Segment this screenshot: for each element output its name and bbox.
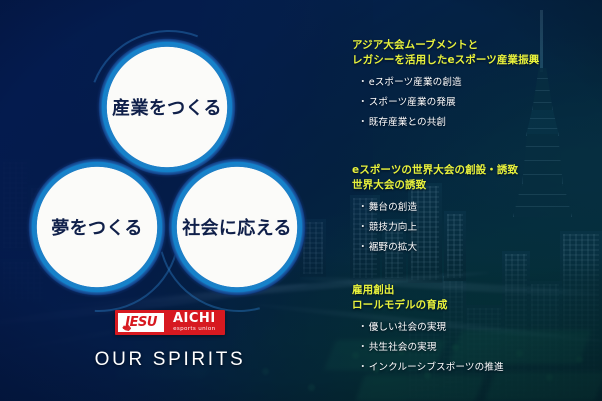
pillar-circle-label: 産業をつくる — [112, 94, 222, 120]
detail-block-industry: アジア大会ムーブメントと レガシーを活用したeスポーツ産業振興 ・eスポーツ産業… — [352, 38, 602, 136]
bullet-text: 既存産業との共創 — [369, 117, 446, 128]
heading-line: レガシーを活用したeスポーツ産業振興 — [352, 53, 602, 68]
pillar-circle-create-dreams[interactable]: 夢をつくる — [26, 156, 168, 298]
bullet-marker: ・ — [358, 342, 368, 353]
bullet-marker: ・ — [358, 242, 368, 253]
pillar-circle-create-industry[interactable]: 産業をつくる — [96, 36, 238, 178]
heading-line: 雇用創出 — [352, 283, 602, 298]
bullet-item: ・スポーツ産業の発展 — [358, 96, 602, 109]
bullet-text: 裾野の拡大 — [369, 242, 417, 253]
bullet-item: ・優しい社会の実現 — [358, 321, 602, 334]
bullet-marker: ・ — [358, 362, 368, 373]
pillar-circle-label: 社会に応える — [182, 214, 292, 240]
bullet-text: 競技力向上 — [369, 222, 417, 233]
bullet-item: ・インクルーシブスポーツの推進 — [358, 361, 602, 374]
bullet-text: 共生社会の実現 — [369, 342, 437, 353]
bullet-marker: ・ — [358, 117, 368, 128]
bullet-item: ・eスポーツ産業の創造 — [358, 76, 602, 89]
pillar-circle-label: 夢をつくる — [51, 214, 142, 240]
bullet-marker: ・ — [358, 222, 368, 233]
detail-block-world-tournament: eスポーツの世界大会の創設・誘致 世界大会の誘致 ・舞台の創造 ・競技力向上 ・… — [352, 163, 602, 261]
bullet-item: ・既存産業との共創 — [358, 116, 602, 129]
bullet-item: ・裾野の拡大 — [358, 241, 602, 254]
detail-block-employment: 雇用創出 ロールモデルの育成 ・優しい社会の実現 ・共生社会の実現 ・インクルー… — [352, 283, 602, 381]
bullet-marker: ・ — [358, 322, 368, 333]
bullet-item: ・競技力向上 — [358, 221, 602, 234]
detail-block-bullets: ・優しい社会の実現 ・共生社会の実現 ・インクルーシブスポーツの推進 — [352, 321, 602, 374]
pillar-circle-answer-society[interactable]: 社会に応える — [166, 156, 308, 298]
heading-line: eスポーツの世界大会の創設・誘致 — [352, 163, 602, 178]
detail-block-bullets: ・舞台の創造 ・競技力向上 ・裾野の拡大 — [352, 201, 602, 254]
bullet-marker: ・ — [358, 97, 368, 108]
aichi-logo-block: AICHI esports union — [166, 310, 225, 335]
bullet-item: ・舞台の創造 — [358, 201, 602, 214]
detail-block-heading: 雇用創出 ロールモデルの育成 — [352, 283, 602, 312]
aichi-logo-subtitle: esports union — [173, 325, 216, 333]
detail-column: アジア大会ムーブメントと レガシーを活用したeスポーツ産業振興 ・eスポーツ産業… — [352, 0, 602, 401]
aichi-logo-text: AICHI — [173, 312, 216, 325]
detail-block-heading: アジア大会ムーブメントと レガシーを活用したeスポーツ産業振興 — [352, 38, 602, 67]
tagline: OUR SPIRITS — [0, 349, 340, 371]
heading-line: アジア大会ムーブメントと — [352, 38, 602, 53]
bullet-text: 舞台の創造 — [369, 202, 417, 213]
bullet-text: インクルーシブスポーツの推進 — [369, 362, 504, 373]
bullet-marker: ・ — [358, 77, 368, 88]
heading-line: 世界大会の誘致 — [352, 178, 602, 193]
detail-block-bullets: ・eスポーツ産業の創造 ・スポーツ産業の発展 ・既存産業との共創 — [352, 76, 602, 129]
jesu-aichi-logo: JESU AICHI esports union — [115, 310, 224, 335]
footer: JESU AICHI esports union OUR SPIRITS — [0, 310, 340, 371]
bullet-text: スポーツ産業の発展 — [369, 97, 456, 108]
detail-block-heading: eスポーツの世界大会の創設・誘致 世界大会の誘致 — [352, 163, 602, 192]
bullet-item: ・共生社会の実現 — [358, 341, 602, 354]
heading-line: ロールモデルの育成 — [352, 298, 602, 313]
jesu-logo-mark: JESU — [118, 313, 164, 332]
bullet-marker: ・ — [358, 202, 368, 213]
bullet-text: 優しい社会の実現 — [369, 322, 447, 333]
bullet-text: eスポーツ産業の創造 — [369, 77, 462, 88]
presentation-slide: 産業をつくる 夢をつくる 社会に応える アジア大会ムーブメントと レガシーを活用… — [0, 0, 602, 401]
